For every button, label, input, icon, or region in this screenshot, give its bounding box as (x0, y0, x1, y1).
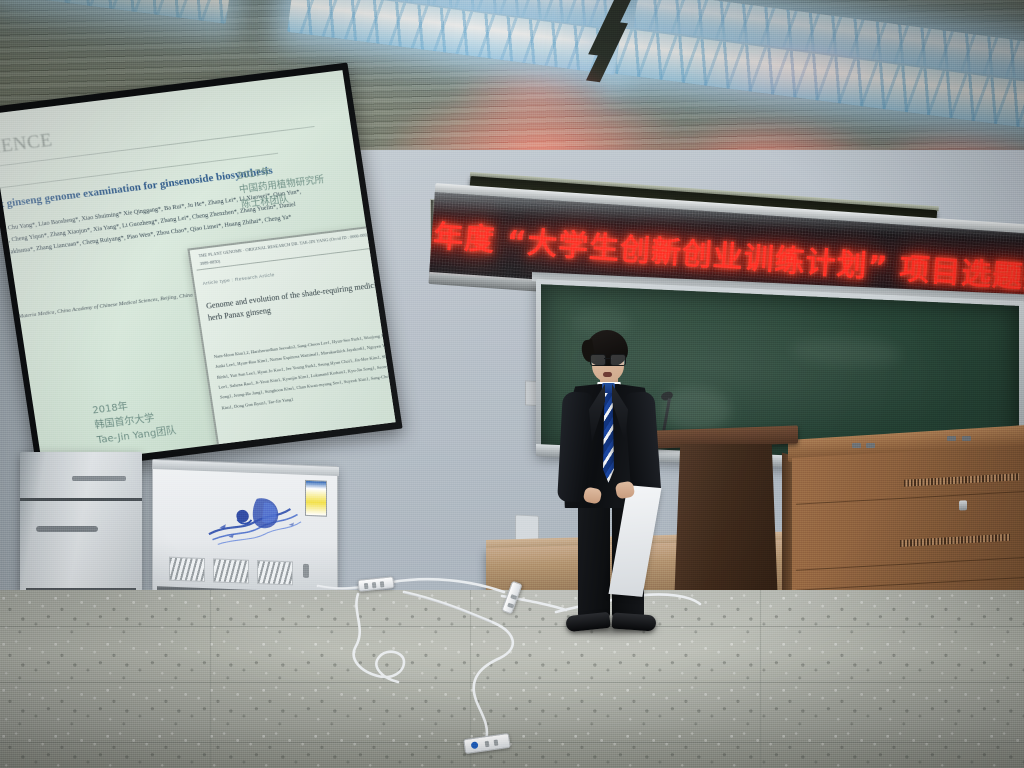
refrigerator (20, 452, 142, 594)
freezer-vent-grille (169, 557, 205, 582)
freezer-handle[interactable] (303, 564, 309, 578)
refrigerator-door-seam (20, 498, 142, 501)
wooden-podium (660, 428, 792, 614)
wooden-av-cabinet (788, 440, 1024, 612)
chest-freezer-body (152, 459, 338, 598)
cabinet-seam (796, 576, 1024, 590)
presenter-mouth (603, 372, 612, 377)
paper2-authors: Nam-Hoon Kim1,2, Harshavardhan Jeevaks2,… (213, 329, 396, 413)
presenter-eyeglasses (590, 354, 626, 364)
paper2-article-type: Article type : Research Article (202, 272, 275, 286)
eyeglass-lens-left (590, 354, 606, 366)
refrigerator-body (20, 452, 142, 594)
freezer-vent-grille (257, 560, 293, 585)
energy-efficiency-label (305, 480, 327, 517)
floor-tile-joint (0, 682, 1024, 683)
floor-tile-joint (210, 590, 211, 768)
eyeglass-lens-right (610, 354, 626, 366)
cabinet-hinge (947, 436, 956, 441)
floor-tile-joint (0, 742, 1024, 743)
podium-body (674, 444, 778, 606)
cabinet-vent-slots (904, 473, 1020, 486)
floor-tile-joint (760, 590, 761, 768)
cabinet-front (792, 445, 1024, 608)
cabinet-hinge (866, 443, 875, 448)
presenter-arm-left (557, 391, 593, 502)
paper2-title: Genome and evolution of the shade-requir… (205, 278, 389, 325)
cabinet-lock[interactable] (959, 500, 967, 510)
cabinet-hinge (852, 443, 861, 448)
chest-freezer (152, 459, 338, 598)
floor-tile-joint (0, 626, 1024, 627)
projection-screen: SA SCIENCE Panax ginseng genome examinat… (0, 62, 403, 473)
chalk-smudge (791, 336, 901, 369)
freezer-wave-decal (201, 488, 309, 554)
classroom-presentation-photo: 2018年度 “大学生创新创业训练计划” 项目选题报告会 SA SCIENCE … (0, 0, 1024, 768)
paper2-annotation: 2018年 韩国首尔大学 Tae-Jin Yang团队 (91, 388, 227, 449)
freezer-vent-grille (213, 558, 249, 583)
cabinet-seam (796, 490, 1024, 504)
student-presenter (540, 330, 670, 640)
projected-slide: SA SCIENCE Panax ginseng genome examinat… (0, 70, 396, 466)
cabinet-hinge (962, 436, 971, 441)
presenter-shoe-right (611, 612, 656, 631)
journal-logo-line2: SCIENCE (0, 130, 54, 162)
refrigerator-door-handle[interactable] (36, 526, 98, 532)
cabinet-seam (796, 556, 1024, 570)
journal-logo: SA SCIENCE (0, 113, 54, 162)
paper2-inset: THE PLANT GENOME · ORIGINAL RESEARCH DR.… (187, 224, 395, 450)
cabinet-vent-slots (900, 534, 1010, 547)
terrazzo-floor (0, 590, 1024, 768)
presenter-leg-left (578, 500, 610, 618)
refrigerator-freezer-handle[interactable] (72, 476, 126, 481)
